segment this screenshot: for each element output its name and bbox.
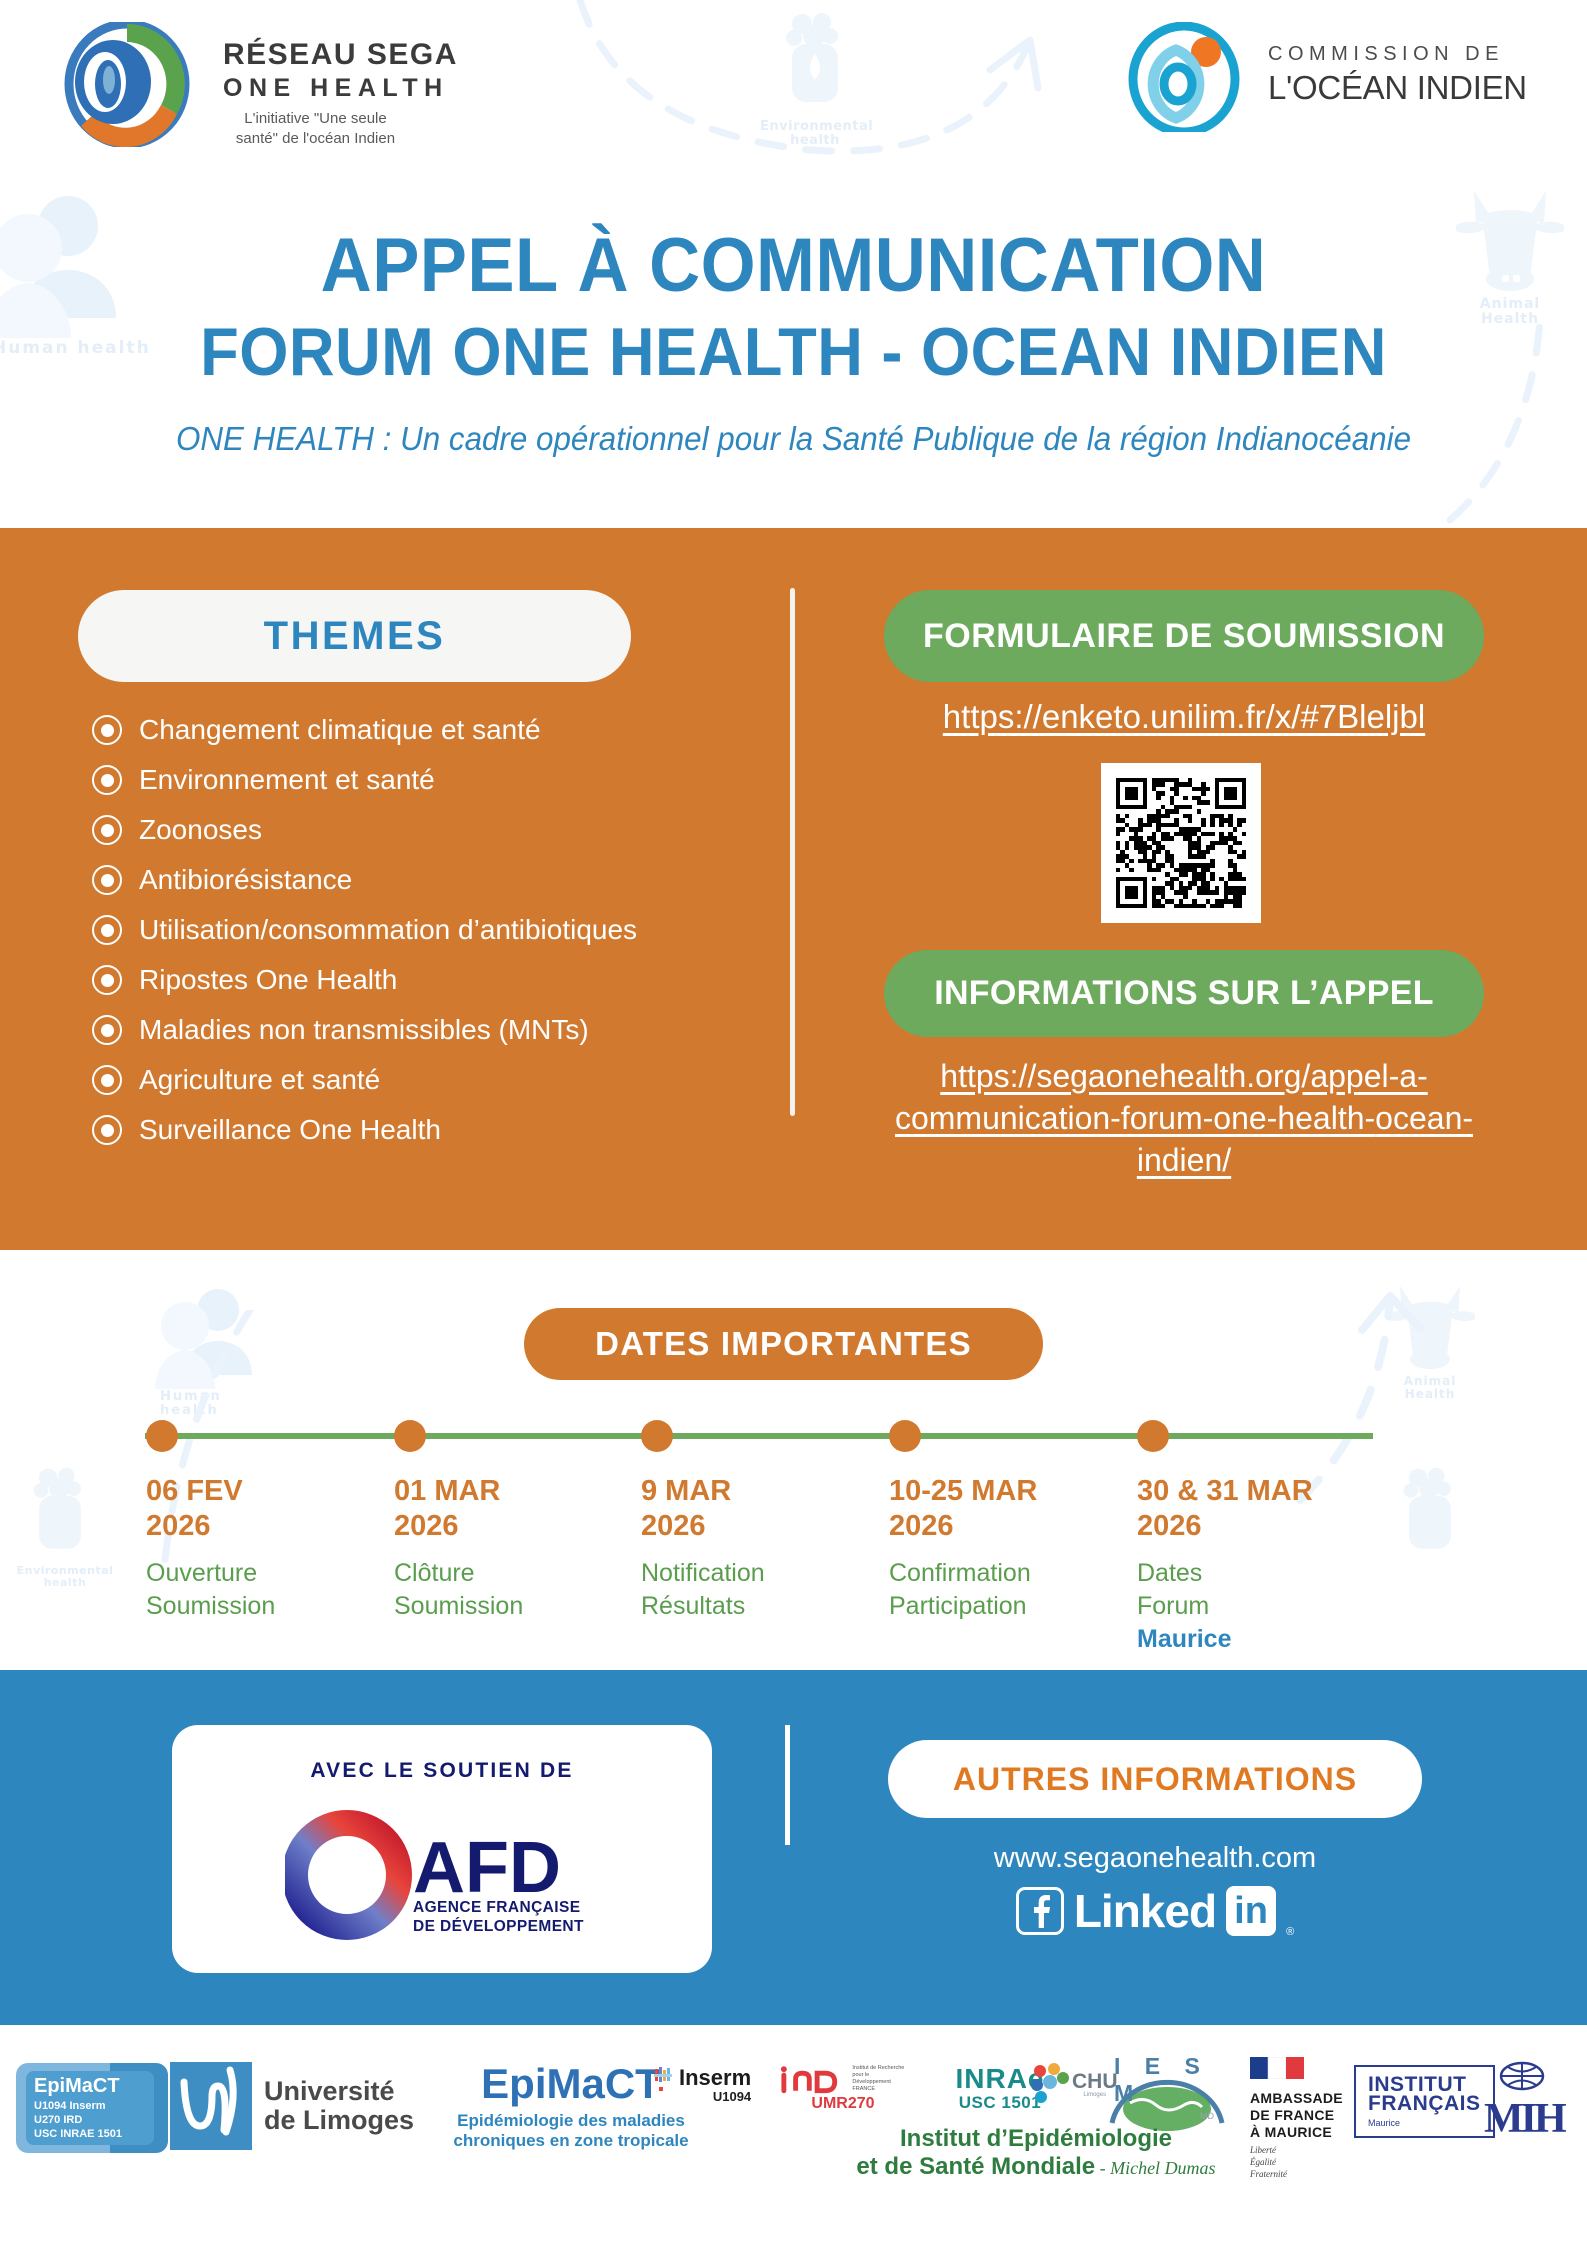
watermark-animal-health-2: Animal Health xyxy=(1380,1280,1480,1400)
timeline-date-line2: 2026 xyxy=(889,1510,954,1542)
timeline-dot xyxy=(1137,1420,1169,1452)
afd-tagline-line2: DE DÉVELOPPEMENT xyxy=(413,1917,584,1936)
theme-label: Zoonoses xyxy=(139,814,262,846)
logo-institut-francais: INSTITUT FRANÇAIS Maurice xyxy=(1354,2065,1495,2138)
timeline-dot xyxy=(146,1420,178,1452)
timeline-item: 10-25 MAR 2026 Confirmation Participatio… xyxy=(889,1474,1099,1623)
epimact-badge-line1: U1094 Inserm xyxy=(34,2099,146,2113)
linkedin-in-icon[interactable]: in xyxy=(1226,1886,1276,1936)
linkedin-wordmark[interactable]: Linked xyxy=(1074,1884,1216,1938)
inserm-wordmark: Inserm xyxy=(679,2067,751,2089)
radio-bullet-icon xyxy=(92,1065,122,1095)
watermark-env-health-2-label-1: Environmental xyxy=(10,1565,120,1577)
watermark-animal-health-2-label-1: Animal xyxy=(1380,1375,1480,1388)
epimact-badge-line3: USC INRAE 1501 xyxy=(34,2127,146,2141)
logo-universite-limoges: Université de Limoges xyxy=(168,2060,414,2152)
facebook-icon[interactable] xyxy=(1016,1887,1064,1935)
radio-bullet-icon xyxy=(92,715,122,745)
iesm-letters: I E S M xyxy=(1114,2053,1226,2107)
timeline-desc-line1: Dates xyxy=(1137,1559,1202,1587)
theme-item: Utilisation/consommation d’antibiotiques xyxy=(92,905,752,955)
theme-label: Antibiorésistance xyxy=(139,864,352,896)
call-info-heading-pill: INFORMATIONS SUR L’APPEL xyxy=(884,950,1484,1037)
coi-logo-line1: COMMISSION DE xyxy=(1268,44,1527,64)
theme-label: Environnement et santé xyxy=(139,764,435,796)
timeline-dot xyxy=(394,1420,426,1452)
timeline-date-line1: 30 & 31 MAR xyxy=(1137,1475,1313,1507)
coi-logo-line2: L'OCÉAN INDIEN xyxy=(1268,71,1527,104)
watermark-animal-health-2-label-2: Health xyxy=(1380,1388,1480,1401)
call-info-link-line2: communication-forum-one-health- xyxy=(895,1100,1375,1136)
ird-umr: UMR270 xyxy=(778,2095,908,2113)
logo-mih: MIH xyxy=(1484,2061,1564,2140)
footer-logos-section: EpiMaCT U1094 Inserm U270 IRD USC INRAE … xyxy=(0,2025,1587,2245)
qr-code[interactable] xyxy=(1101,763,1261,923)
theme-label: Utilisation/consommation d’antibiotiques xyxy=(139,914,637,946)
radio-bullet-icon xyxy=(92,915,122,945)
timeline-desc-line1: Confirmation xyxy=(889,1559,1031,1587)
timeline-desc-line1: Notification xyxy=(641,1559,765,1587)
ambassade-line2: DE FRANCE xyxy=(1250,2107,1343,2124)
ambassade-devise1: Liberté xyxy=(1250,2145,1343,2157)
iesm-label-author: - Michel Dumas xyxy=(1100,2158,1216,2178)
theme-item: Agriculture et santé xyxy=(92,1055,752,1105)
timeline-dot xyxy=(641,1420,673,1452)
afd-support-card: AVEC LE SOUTIEN DE AFD AGENCE FRANÇAISE … xyxy=(172,1725,712,1973)
dates-heading-pill: DATES IMPORTANTES xyxy=(524,1308,1043,1380)
with-support-of-label: AVEC LE SOUTIEN DE xyxy=(172,1759,712,1783)
epimact2-line1: Epidémiologie des maladies xyxy=(416,2111,726,2131)
institut-francais-sub: Maurice xyxy=(1368,2118,1481,2128)
timeline-date-line2: 2026 xyxy=(394,1510,459,1542)
logo-commission-ocean-indien: COMMISSION DE L'OCÉAN INDIEN xyxy=(1120,22,1560,132)
timeline-date-line2: 2026 xyxy=(641,1510,706,1542)
other-info-heading-pill: AUTRES INFORMATIONS xyxy=(888,1740,1422,1818)
svg-text:AFD: AFD xyxy=(413,1828,561,1908)
radio-bullet-icon xyxy=(92,815,122,845)
watermark-env-health-2-label-2: health xyxy=(10,1577,120,1589)
watermark-human-health-2: Human health xyxy=(150,1285,280,1417)
watermark-env-health-label-2: health xyxy=(760,134,870,148)
blue-column-divider xyxy=(785,1725,790,1845)
ird-sub-line3: FRANCE xyxy=(852,2086,908,2093)
other-info-heading-label: AUTRES INFORMATIONS xyxy=(953,1761,1357,1798)
timeline-item: 30 & 31 MAR 2026 Dates Forum Maurice xyxy=(1137,1474,1347,1657)
timeline-desc-line2: Soumission xyxy=(394,1592,523,1620)
theme-item: Ripostes One Health xyxy=(92,955,752,1005)
submission-form-link[interactable]: https://enketo.unilim.fr/x/#7Bleljbl xyxy=(834,698,1534,736)
themes-heading-pill: THEMES xyxy=(78,590,631,682)
sega-logo-line2: ONE HEALTH xyxy=(223,76,458,101)
timeline-track xyxy=(145,1433,1373,1439)
timeline-date-line1: 06 FEV xyxy=(146,1475,243,1507)
logo-epimact-badge: EpiMaCT U1094 Inserm U270 IRD USC INRAE … xyxy=(16,2063,168,2153)
sega-logo-line3: L'initiative "Une seule santé" de l'océa… xyxy=(223,109,408,150)
social-links-row: Linked in ® xyxy=(888,1880,1422,1942)
timeline-date-line1: 01 MAR xyxy=(394,1475,500,1507)
timeline-item: 9 MAR 2026 Notification Résultats xyxy=(641,1474,851,1623)
timeline-desc-line1: Ouverture xyxy=(146,1559,257,1587)
watermark-environmental-health-2: Environmental health xyxy=(10,1465,120,1588)
theme-item: Maladies non transmissibles (MNTs) xyxy=(92,1005,752,1055)
radio-bullet-icon xyxy=(92,865,122,895)
epimact-badge-line2: U270 IRD xyxy=(34,2113,146,2127)
watermark-environmental-health: Environmental health xyxy=(760,10,870,147)
timeline-date-line1: 10-25 MAR xyxy=(889,1475,1037,1507)
inserm-unit: U1094 xyxy=(679,2089,751,2104)
radio-bullet-icon xyxy=(92,765,122,795)
theme-item: Antibiorésistance xyxy=(92,855,752,905)
call-info-link-line1: https://segaonehealth.org/appel-a- xyxy=(940,1058,1427,1094)
ird-sub-line2: pour le Développement xyxy=(852,2072,908,2086)
afd-logo: AFD AGENCE FRANÇAISE DE DÉVELOPPEMENT xyxy=(285,1800,605,1950)
call-info-heading-label: INFORMATIONS SUR L’APPEL xyxy=(934,974,1434,1013)
logo-inserm: Inserm U1094 xyxy=(654,2067,751,2104)
ambassade-line1: AMBASSADE xyxy=(1250,2090,1343,2107)
title-block: APPEL À COMMUNICATION FORUM ONE HEALTH -… xyxy=(0,228,1587,458)
sega-logo-line1: RÉSEAU SEGA xyxy=(223,40,458,70)
theme-label: Agriculture et santé xyxy=(139,1064,380,1096)
logo-chu: CHU Limoges xyxy=(1030,2063,1118,2105)
iesm-institute-label: Institut d’Epidémiologie et de Santé Mon… xyxy=(756,2125,1316,2182)
logo-reseau-sega: RÉSEAU SEGA ONE HEALTH L'initiative "Une… xyxy=(55,22,475,147)
timeline-date-line2: 2026 xyxy=(1137,1510,1202,1542)
mih-wordmark: MIH xyxy=(1484,2098,1564,2140)
timeline-date-line1: 9 MAR xyxy=(641,1475,731,1507)
theme-label: Maladies non transmissibles (MNTs) xyxy=(139,1014,589,1046)
timeline-desc-line2: Participation xyxy=(889,1592,1027,1620)
theme-label: Ripostes One Health xyxy=(139,964,397,996)
timeline-item: 06 FEV 2026 Ouverture Soumission xyxy=(146,1474,356,1623)
submission-heading-label: FORMULAIRE DE SOUMISSION xyxy=(923,617,1445,656)
timeline-item: 01 MAR 2026 Clôture Soumission xyxy=(394,1474,604,1623)
logo-ird: Institut de Recherche pour le Développem… xyxy=(778,2063,908,2113)
website-url[interactable]: www.segaonehealth.com xyxy=(888,1842,1422,1875)
limoges-line2: de Limoges xyxy=(264,2106,414,2135)
page-subtitle: FORUM ONE HEALTH - OCEAN INDIEN xyxy=(56,318,1532,386)
call-info-link[interactable]: https://segaonehealth.org/appel-a-commun… xyxy=(870,1055,1498,1182)
orange-column-divider xyxy=(790,588,795,1116)
timeline-desc-line2: Résultats xyxy=(641,1592,745,1620)
limoges-line1: Université xyxy=(264,2077,414,2106)
watermark-env-health-label-1: Environmental xyxy=(760,120,870,134)
institut-francais-line2: FRANÇAIS xyxy=(1368,2094,1481,2113)
timeline-desc-line1: Clôture xyxy=(394,1559,475,1587)
epimact-badge-title: EpiMaCT xyxy=(34,2076,146,2096)
iesm-label-line2: et de Santé Mondiale xyxy=(856,2153,1095,2181)
timeline-desc-line2: Forum xyxy=(1137,1592,1209,1620)
ambassade-line3: À MAURICE xyxy=(1250,2124,1343,2141)
iesm-md: MD xyxy=(1200,2111,1214,2121)
theme-item: Environnement et santé xyxy=(92,755,752,805)
themes-heading-label: THEMES xyxy=(264,614,446,659)
header-section: Human health Animal Health xyxy=(0,0,1587,528)
page-title: APPEL À COMMUNICATION xyxy=(56,228,1532,304)
logo-ambassade-france: AMBASSADE DE FRANCE À MAURICE Liberté Ég… xyxy=(1250,2057,1343,2180)
timeline-dot xyxy=(889,1420,921,1452)
ird-sub-line1: Institut de Recherche xyxy=(852,2065,908,2072)
poster-root: Human health Animal Health xyxy=(0,0,1587,2245)
timeline-date-line2: 2026 xyxy=(146,1510,211,1542)
page-tagline: ONE HEALTH : Un cadre opérationnel pour … xyxy=(40,420,1548,458)
submission-heading-pill: FORMULAIRE DE SOUMISSION xyxy=(884,590,1484,682)
watermark-environmental-health-3 xyxy=(1380,1465,1480,1565)
epimact2-line2: chroniques en zone tropicale xyxy=(416,2131,726,2151)
radio-bullet-icon xyxy=(92,1015,122,1045)
afd-tagline-line1: AGENCE FRANÇAISE xyxy=(413,1898,584,1917)
theme-item: Surveillance One Health xyxy=(92,1105,752,1155)
watermark-human-health-2-label: Human health xyxy=(150,1390,280,1417)
theme-item: Changement climatique et santé xyxy=(92,705,752,755)
ambassade-devise3: Fraternité xyxy=(1250,2169,1343,2181)
watermark-dashed-arc-top xyxy=(560,0,1100,170)
iesm-label-line1: Institut d’Epidémiologie xyxy=(756,2125,1316,2153)
radio-bullet-icon xyxy=(92,1115,122,1145)
ambassade-devise2: Égalité xyxy=(1250,2157,1343,2169)
themes-list: Changement climatique et santé Environne… xyxy=(92,705,752,1155)
linkedin-registered-mark: ® xyxy=(1286,1926,1294,1938)
dates-heading-label: DATES IMPORTANTES xyxy=(595,1325,972,1363)
theme-label: Changement climatique et santé xyxy=(139,714,541,746)
theme-item: Zoonoses xyxy=(92,805,752,855)
timeline-place: Maurice xyxy=(1137,1623,1347,1656)
timeline-desc-line2: Soumission xyxy=(146,1592,275,1620)
theme-label: Surveillance One Health xyxy=(139,1114,441,1146)
radio-bullet-icon xyxy=(92,965,122,995)
